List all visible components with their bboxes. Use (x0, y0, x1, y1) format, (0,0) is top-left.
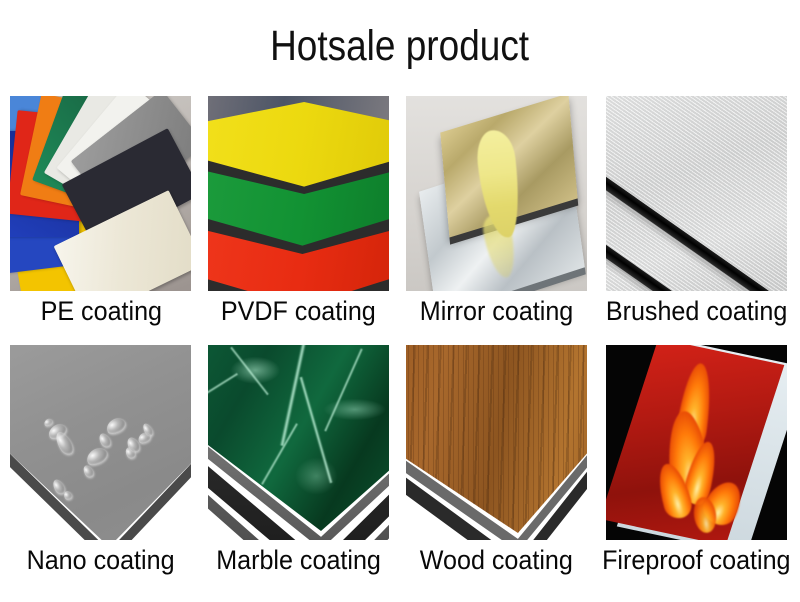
product-grid: PE coating PVDF c (2, 96, 798, 598)
marble-vein (299, 377, 333, 484)
product-card-marble[interactable]: Marble coating (200, 345, 398, 598)
product-card-mirror[interactable]: Mirror coating (398, 96, 596, 345)
pvdf-face-yellow (208, 102, 389, 194)
page-title: Hotsale product (270, 22, 529, 71)
product-card-wood[interactable]: Wood coating (398, 345, 596, 598)
product-label-pvdf: PVDF coating (221, 297, 376, 327)
product-label-mirror: Mirror coating (420, 297, 573, 327)
product-label-nano: Nano coating (27, 546, 175, 576)
product-label-brushed: Brushed coating (606, 297, 787, 327)
product-card-pvdf[interactable]: PVDF coating (200, 96, 398, 345)
pvdf-coating-stacked-panels-photo[interactable] (208, 96, 389, 291)
brushed-coating-silver-panels-photo[interactable] (606, 96, 787, 291)
wood-coating-grain-panel-photo[interactable] (406, 345, 587, 540)
nano-coating-water-droplets-photo[interactable] (10, 345, 191, 540)
marble-coating-green-marble-photo[interactable] (208, 345, 389, 540)
product-card-brushed[interactable]: Brushed coating (595, 96, 798, 345)
marble-vein (261, 423, 299, 485)
product-card-pe[interactable]: PE coating (2, 96, 200, 345)
product-label-wood: Wood coating (420, 546, 573, 576)
product-card-fireproof[interactable]: Fireproof coating (595, 345, 798, 598)
product-label-fireproof: Fireproof coating (602, 546, 790, 576)
fireproof-coating-flame-panel-photo[interactable] (606, 345, 787, 540)
product-label-pe: PE coating (40, 297, 161, 327)
product-showcase-page: Hotsale product PE coating (0, 0, 800, 602)
page-title-bar: Hotsale product (0, 6, 800, 86)
pvdf-panel-yellow (208, 102, 389, 194)
product-card-nano[interactable]: Nano coating (2, 345, 200, 598)
marble-vein (230, 346, 269, 395)
pe-coating-color-sheets-photo[interactable] (10, 96, 191, 291)
marble-vein (208, 373, 238, 418)
marble-vein (324, 348, 363, 431)
product-label-marble: Marble coating (216, 546, 381, 576)
mirror-coating-gold-silver-panels-photo[interactable] (406, 96, 587, 291)
